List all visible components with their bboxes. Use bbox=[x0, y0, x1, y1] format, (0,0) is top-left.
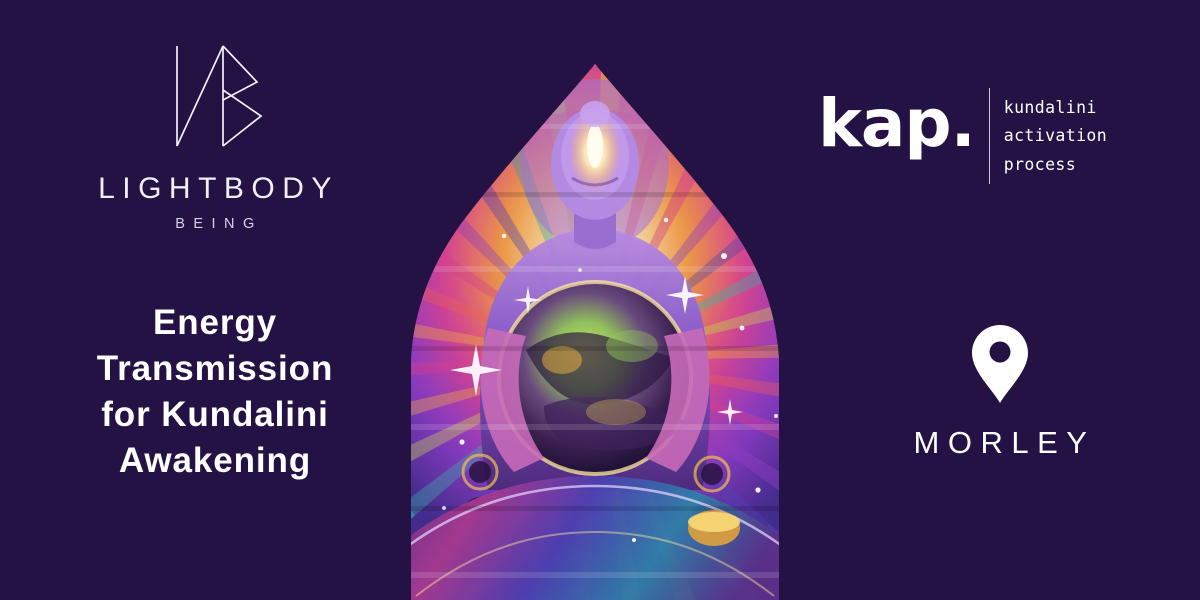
kap-logo: kap. kundalini activation process bbox=[818, 86, 1107, 186]
kap-tagline-line-3: process bbox=[1004, 151, 1107, 179]
location-name: MORLEY bbox=[905, 425, 1096, 461]
kap-tagline: kundalini activation process bbox=[1004, 86, 1107, 179]
headline-line-2: Transmission bbox=[40, 346, 390, 392]
location-block: MORLEY bbox=[880, 325, 1120, 461]
headline-line-3: for Kundalini bbox=[40, 392, 390, 438]
headline: Energy Transmission for Kundalini Awaken… bbox=[40, 300, 390, 483]
event-banner: LIGHTBODY BEING Energy Transmission for … bbox=[0, 0, 1200, 600]
meditation-artwork bbox=[376, 60, 814, 600]
map-pin-icon bbox=[972, 325, 1028, 403]
brand-subtitle: BEING bbox=[167, 217, 263, 232]
brand-block: LIGHTBODY BEING bbox=[70, 40, 360, 232]
kap-tagline-line-1: kundalini bbox=[1004, 94, 1107, 122]
artwork-image bbox=[376, 60, 814, 600]
headline-line-4: Awakening bbox=[40, 438, 390, 484]
lightbody-monogram-icon bbox=[163, 40, 267, 152]
kap-divider bbox=[989, 88, 990, 184]
brand-name: LIGHTBODY bbox=[91, 174, 339, 204]
headline-line-1: Energy bbox=[40, 300, 390, 346]
kap-tagline-line-2: activation bbox=[1004, 122, 1107, 150]
kap-wordmark: kap. bbox=[818, 92, 975, 157]
